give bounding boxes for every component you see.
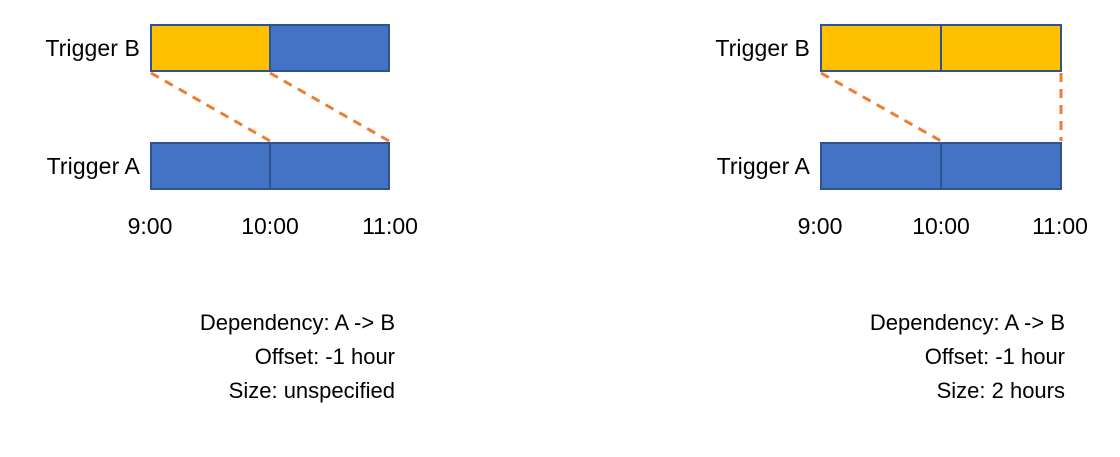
- axis-tick-9-00: 9:00: [128, 211, 173, 241]
- axis-tick-10-00: 10:00: [241, 211, 299, 241]
- bar-segment-a-10-11: [940, 144, 1060, 188]
- connector-dashed-diagonal-1: [151, 73, 270, 141]
- diagram-canvas: Trigger B Trigger A 9:00 10:00 11:00 Dep…: [0, 0, 1120, 457]
- caption-left: Dependency: A -> B Offset: -1 hour Size:…: [60, 306, 395, 408]
- caption-dependency: Dependency: A -> B: [60, 306, 395, 340]
- bar-trigger-a: [820, 142, 1062, 190]
- time-axis-right: 9:00 10:00 11:00: [560, 211, 1120, 241]
- bar-segment-a-9-10: [152, 144, 269, 188]
- connector-dashed-diagonal-1: [821, 73, 941, 141]
- bar-segment-b-10-11: [940, 26, 1060, 70]
- bar-segment-b-10-11: [269, 26, 388, 70]
- caption-dependency: Dependency: A -> B: [730, 306, 1065, 340]
- axis-tick-11-00: 11:00: [362, 211, 418, 241]
- bar-segment-a-10-11: [269, 144, 388, 188]
- bar-trigger-b: [820, 24, 1062, 72]
- bar-trigger-a: [150, 142, 390, 190]
- time-axis-left: 9:00 10:00 11:00: [0, 211, 560, 241]
- caption-offset: Offset: -1 hour: [730, 340, 1065, 374]
- caption-size: Size: unspecified: [60, 374, 395, 408]
- bar-segment-a-9-10: [822, 144, 940, 188]
- row-label-trigger-a: Trigger A: [680, 142, 810, 190]
- axis-tick-11-00: 11:00: [1032, 211, 1088, 241]
- caption-offset: Offset: -1 hour: [60, 340, 395, 374]
- bar-trigger-b: [150, 24, 390, 72]
- caption-size: Size: 2 hours: [730, 374, 1065, 408]
- panel-right-sized-2-hours: Trigger B Trigger A 9:00 10:00 11:00 Dep…: [560, 0, 1120, 457]
- row-label-trigger-b: Trigger B: [10, 24, 140, 72]
- axis-tick-10-00: 10:00: [912, 211, 970, 241]
- panel-left-unspecified-size: Trigger B Trigger A 9:00 10:00 11:00 Dep…: [0, 0, 560, 457]
- bar-segment-b-9-10: [822, 26, 940, 70]
- row-label-trigger-a: Trigger A: [10, 142, 140, 190]
- caption-right: Dependency: A -> B Offset: -1 hour Size:…: [730, 306, 1065, 408]
- bar-segment-b-9-10: [152, 26, 269, 70]
- row-label-trigger-b: Trigger B: [680, 24, 810, 72]
- axis-tick-9-00: 9:00: [798, 211, 843, 241]
- connector-dashed-diagonal-2: [270, 73, 389, 141]
